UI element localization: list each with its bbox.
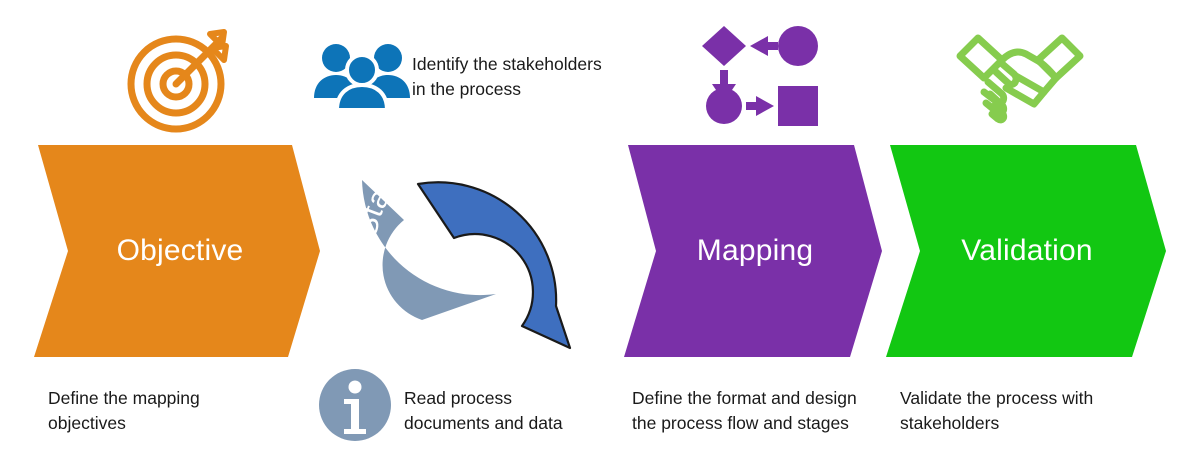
stage-caption-objective-line1: Define the mapping bbox=[48, 386, 298, 411]
flowchart-icon bbox=[700, 22, 820, 126]
data-annotation-text: Read process documents and data bbox=[404, 386, 604, 436]
stage-caption-objective: Define the mapping objectives bbox=[48, 386, 298, 436]
data-annotation-line2: documents and data bbox=[404, 411, 604, 436]
target-icon bbox=[124, 24, 236, 136]
cycle-diagram: Stakeholders Data bbox=[318, 120, 610, 370]
info-icon bbox=[318, 368, 392, 442]
cycle-arc-stakeholders bbox=[418, 182, 570, 348]
stakeholders-annotation-line2: in the process bbox=[412, 77, 627, 102]
stakeholders-annotation-text: Identify the stakeholders in the process bbox=[412, 52, 627, 102]
stage-caption-validation-line2: stakeholders bbox=[900, 411, 1150, 436]
people-icon bbox=[312, 36, 412, 112]
stage-chevron-validation[interactable]: Validation bbox=[882, 143, 1172, 359]
data-annotation-line1: Read process bbox=[404, 386, 604, 411]
stage-caption-mapping: Define the format and design the process… bbox=[632, 386, 882, 436]
stage-caption-validation: Validate the process with stakeholders bbox=[900, 386, 1150, 436]
stage-caption-validation-line1: Validate the process with bbox=[900, 386, 1150, 411]
stage-caption-mapping-line1: Define the format and design bbox=[632, 386, 882, 411]
stage-caption-objective-line2: objectives bbox=[48, 411, 298, 436]
stakeholders-annotation-line1: Identify the stakeholders bbox=[412, 52, 627, 77]
stage-chevron-objective[interactable]: Objective bbox=[30, 143, 330, 359]
process-mapping-diagram: Identify the stakeholders in the process… bbox=[0, 0, 1200, 476]
handshake-icon bbox=[956, 26, 1084, 126]
stage-caption-mapping-line2: the process flow and stages bbox=[632, 411, 882, 436]
stage-chevron-mapping[interactable]: Mapping bbox=[620, 143, 890, 359]
